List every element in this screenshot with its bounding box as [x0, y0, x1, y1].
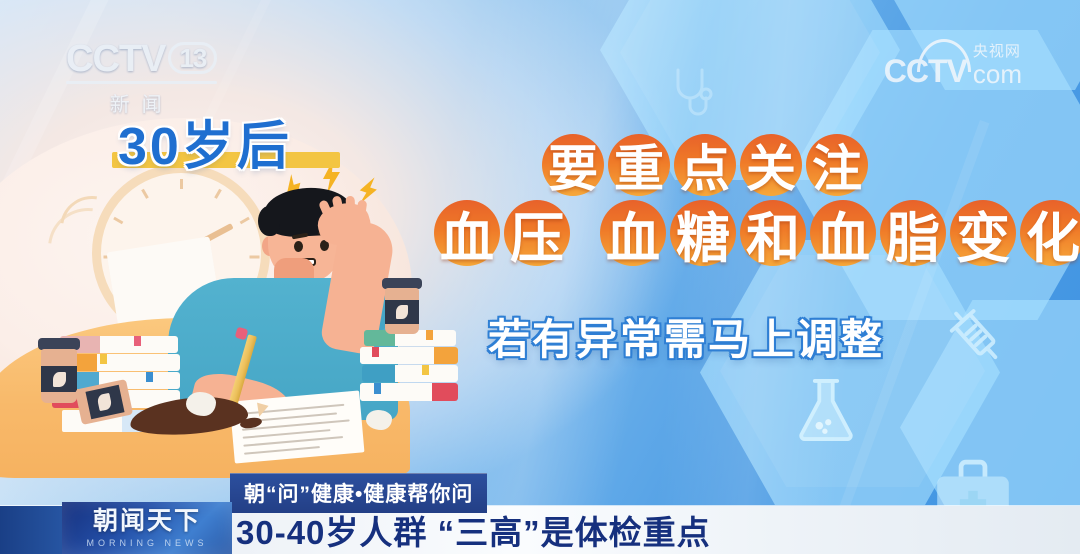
- program-name-chinese: 朝闻天下: [93, 509, 201, 534]
- cctv-logo-text: CCTV: [66, 38, 165, 80]
- headline-char: 压: [502, 198, 572, 268]
- headline-char: 要: [540, 132, 606, 198]
- program-name-english: MORNING NEWS: [87, 538, 208, 548]
- channel-number: 13: [168, 42, 217, 74]
- cctv-13-logo: CCTV13 新闻: [66, 40, 217, 117]
- logo-underline: [66, 81, 217, 84]
- cctv-com-watermark: CCTV 央视网 com: [884, 44, 1022, 87]
- headline-char: 和: [738, 198, 808, 268]
- headline-char: 注: [804, 132, 870, 198]
- headline-char: 脂: [878, 198, 948, 268]
- watermark-arc-icon: [917, 39, 971, 72]
- headline-space: [572, 198, 598, 268]
- headline-char: 化: [1018, 198, 1080, 268]
- watermark-com-text: com: [973, 61, 1022, 87]
- program-subtitle-bar: 朝“问”健康•健康帮你问: [230, 473, 487, 513]
- graphic-headline-line-3: 若有异常需马上调整: [488, 306, 884, 367]
- stethoscope-icon: [660, 60, 724, 129]
- headline-char: 血: [808, 198, 878, 268]
- graphic-headline-line-2: 血 压 血 糖 和 血 脂 变 化: [432, 198, 1080, 268]
- crumpled-paper: [366, 410, 392, 430]
- broadcast-frame: 30岁后 要 重 点 关 注 血 压 血 糖 和 血 脂 变 化 若有异常需马上…: [0, 0, 1080, 554]
- channel-name-chinese: 新闻: [66, 88, 217, 117]
- headline-char: 重: [606, 132, 672, 198]
- morning-news-logo: 朝闻天下 MORNING NEWS: [62, 502, 232, 554]
- headline-char: 关: [738, 132, 804, 198]
- headline-char: 变: [948, 198, 1018, 268]
- news-headline-text: 30-40岁人群 “三高”是体检重点: [236, 506, 711, 554]
- headline-char: 血: [432, 198, 502, 268]
- program-subtitle-text: 朝“问”健康•健康帮你问: [244, 478, 473, 508]
- graphic-headline-line-1: 要 重 点 关 注: [540, 132, 870, 198]
- headline-char: 血: [598, 198, 668, 268]
- headline-char: 点: [672, 132, 738, 198]
- syringe-icon: [940, 300, 1018, 383]
- headline-char: 糖: [668, 198, 738, 268]
- flask-icon: [790, 372, 862, 453]
- crumpled-paper: [186, 392, 216, 416]
